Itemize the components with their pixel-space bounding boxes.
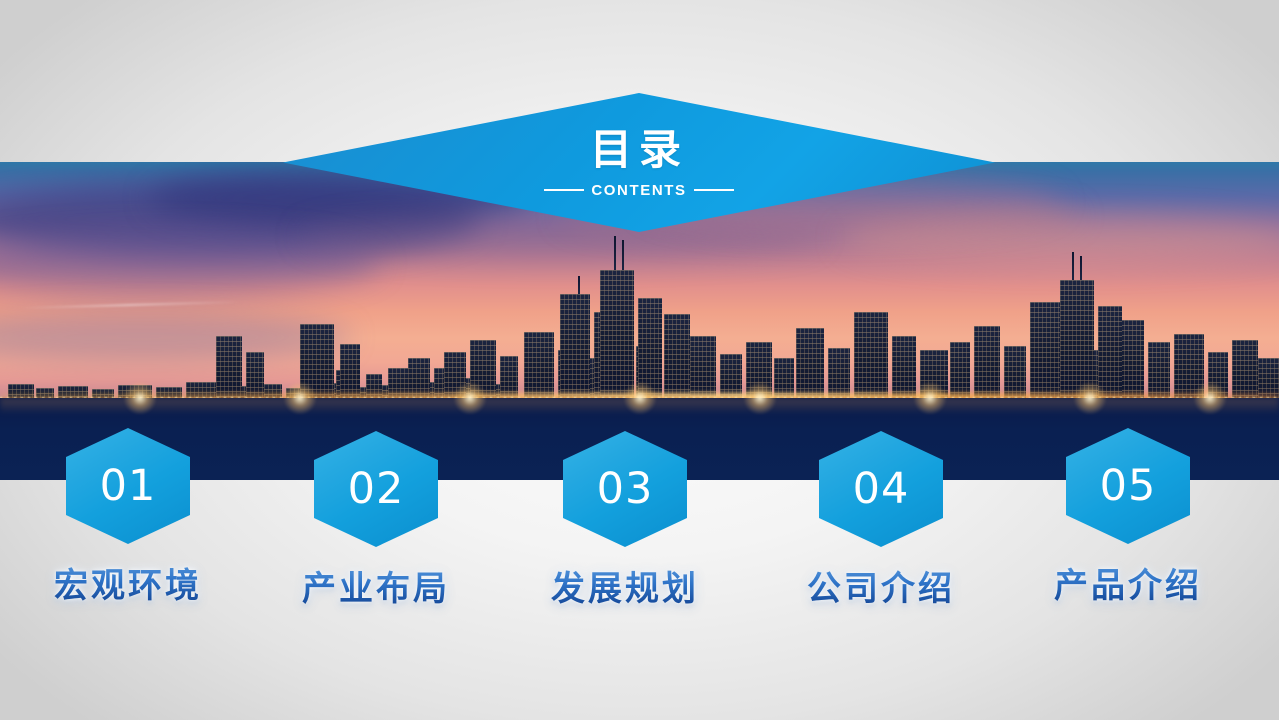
item-number: 05: [1100, 465, 1157, 508]
item-label: 产品介绍: [1003, 558, 1253, 607]
contents-items: 01 宏观环境 02 产业布局 03 发展规划 04 公司介绍 05: [0, 0, 1279, 720]
item-number: 03: [597, 468, 654, 511]
hexagon-badge-02[interactable]: 02: [314, 431, 438, 547]
hexagon-badge-04[interactable]: 04: [819, 431, 943, 547]
item-number: 01: [100, 465, 157, 508]
hexagon-badge-03[interactable]: 03: [563, 431, 687, 547]
item-number: 04: [853, 468, 910, 511]
item-label: 产业布局: [251, 561, 501, 610]
contents-item-01[interactable]: 01 宏观环境: [3, 428, 253, 607]
hexagon-badge-05[interactable]: 05: [1066, 428, 1190, 544]
item-label: 发展规划: [500, 561, 750, 610]
contents-item-03[interactable]: 03 发展规划: [500, 431, 750, 610]
item-label: 宏观环境: [3, 558, 253, 607]
contents-item-05[interactable]: 05 产品介绍: [1003, 428, 1253, 607]
contents-item-04[interactable]: 04 公司介绍: [756, 431, 1006, 610]
hexagon-badge-01[interactable]: 01: [66, 428, 190, 544]
item-label: 公司介绍: [756, 561, 1006, 610]
contents-item-02[interactable]: 02 产业布局: [251, 431, 501, 610]
presentation-slide: 目录 CONTENTS 01 宏观环境 02 产业布局 03 发展规划: [0, 0, 1279, 720]
item-number: 02: [348, 468, 405, 511]
